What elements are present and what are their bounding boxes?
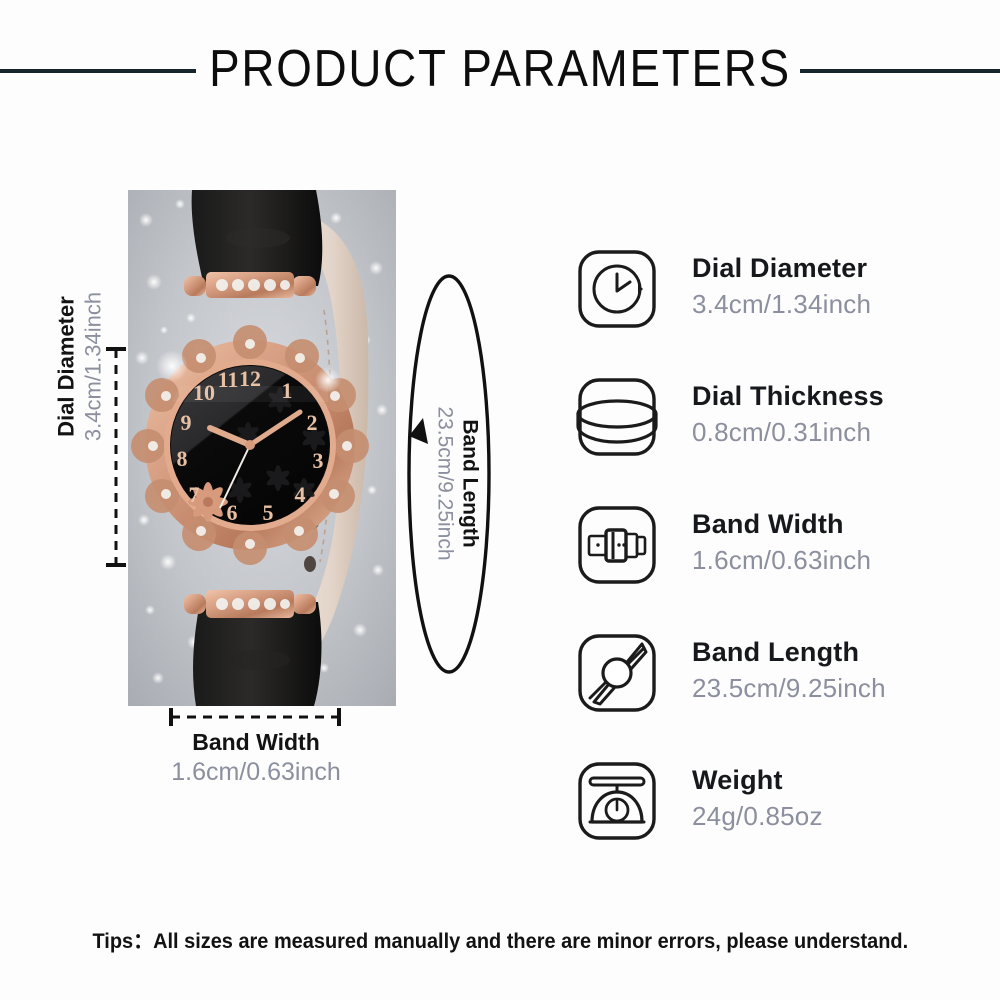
spec-value-band-width: 1.6cm/0.63inch — [692, 542, 871, 578]
dial-diameter-annotation-value: 3.4cm/1.34inch — [80, 249, 107, 485]
svg-text:7: 7 — [189, 482, 200, 507]
watch-diagonal-icon — [576, 632, 658, 714]
footer-tip-text: Tips：All sizes are measured manually and… — [92, 925, 908, 955]
spec-label-weight: Weight — [692, 762, 823, 798]
spec-row-weight: Weight 24g/0.85oz — [576, 760, 976, 888]
svg-text:6: 6 — [227, 500, 238, 525]
band-length-annotation-value: 23.5cm/9.25inch — [432, 324, 458, 644]
dial-diameter-annotation-label: Dial Diameter — [54, 249, 80, 485]
spec-label-band-width: Band Width — [692, 506, 871, 542]
page-title: PRODUCT PARAMETERS — [60, 36, 940, 102]
spec-label-band-length: Band Length — [692, 634, 886, 670]
spec-texts-dial-thickness: Dial Thickness 0.8cm/0.31inch — [692, 378, 884, 450]
band-width-dimension-line — [168, 706, 342, 728]
buckle-icon — [576, 504, 658, 586]
svg-text:9: 9 — [181, 410, 192, 435]
spec-label-dial-thickness: Dial Thickness — [692, 378, 884, 414]
page-header: PRODUCT PARAMETERS — [0, 36, 1000, 106]
clock-icon — [576, 248, 658, 330]
footer: Tips：All sizes are measured manually and… — [0, 925, 1000, 955]
spec-row-band-length: Band Length 23.5cm/9.25inch — [576, 632, 976, 760]
band-width-annotation-label: Band Width — [110, 728, 402, 757]
spec-texts-weight: Weight 24g/0.85oz — [692, 762, 823, 834]
band-length-annotation-label: Band Length — [458, 324, 483, 644]
spec-texts-dial-diameter: Dial Diameter 3.4cm/1.34inch — [692, 250, 871, 322]
watch-product-photo: 12 1 2 3 4 5 6 7 8 9 10 11 — [128, 190, 396, 706]
svg-text:3: 3 — [313, 448, 324, 473]
spec-value-dial-diameter: 3.4cm/1.34inch — [692, 286, 871, 322]
spec-row-band-width: Band Width 1.6cm/0.63inch — [576, 504, 976, 632]
spec-value-dial-thickness: 0.8cm/0.31inch — [692, 414, 884, 450]
spec-list: Dial Diameter 3.4cm/1.34inch Dial Thickn… — [576, 248, 976, 888]
svg-text:2: 2 — [307, 410, 318, 435]
band-width-annotation-value: 1.6cm/0.63inch — [110, 757, 402, 788]
band-length-annotation: Band Length 23.5cm/9.25inch — [432, 324, 483, 644]
band-width-annotation: Band Width 1.6cm/0.63inch — [110, 728, 402, 788]
dial-diameter-dimension-line — [104, 346, 128, 568]
spec-row-dial-diameter: Dial Diameter 3.4cm/1.34inch — [576, 248, 976, 376]
svg-text:8: 8 — [177, 446, 188, 471]
spec-texts-band-width: Band Width 1.6cm/0.63inch — [692, 506, 871, 578]
product-parameters-page: PRODUCT PARAMETERS — [0, 0, 1000, 1000]
kitchen-scale-icon — [576, 760, 658, 842]
svg-text:4: 4 — [295, 482, 306, 507]
watch-dial: 12 1 2 3 4 5 6 7 8 9 10 11 — [171, 366, 329, 525]
spec-label-dial-diameter: Dial Diameter — [692, 250, 871, 286]
spec-value-weight: 24g/0.85oz — [692, 798, 823, 834]
cylinder-icon — [576, 376, 658, 458]
dial-diameter-annotation: Dial Diameter 3.4cm/1.34inch — [54, 249, 107, 485]
spec-row-dial-thickness: Dial Thickness 0.8cm/0.31inch — [576, 376, 976, 504]
spec-texts-band-length: Band Length 23.5cm/9.25inch — [692, 634, 886, 706]
svg-text:5: 5 — [263, 500, 274, 525]
spec-value-band-length: 23.5cm/9.25inch — [692, 670, 886, 706]
